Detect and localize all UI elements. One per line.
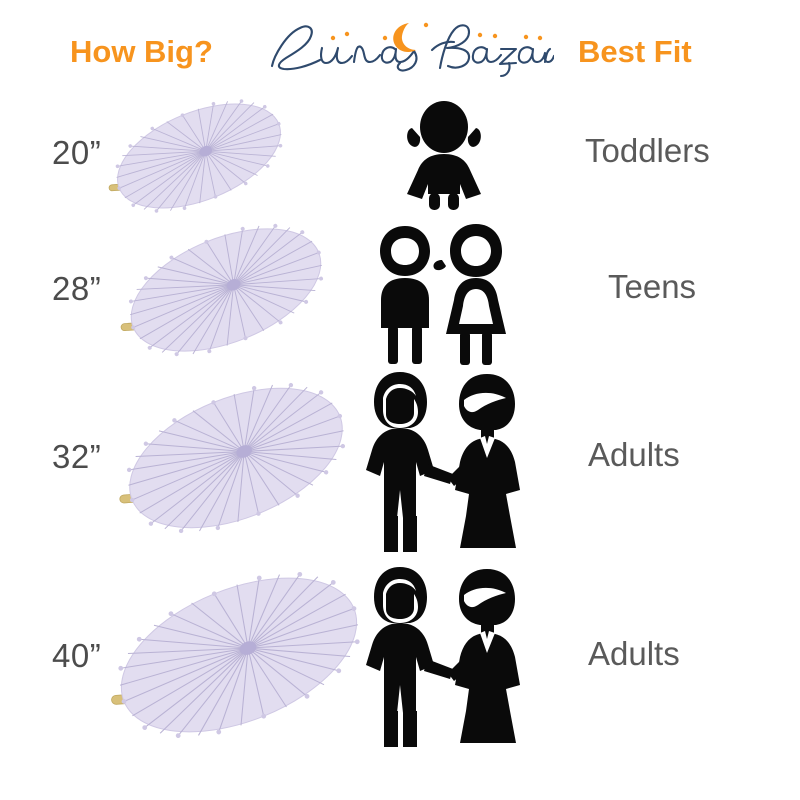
chart-header: How Big? — [0, 0, 800, 92]
fit-label: Adults — [588, 436, 680, 474]
fit-label: Adults — [588, 635, 680, 673]
toddler-girl-icon — [396, 98, 492, 210]
crescent-moon-icon — [393, 23, 416, 52]
parasol-32-inch — [112, 360, 362, 565]
size-label: 28” — [52, 270, 101, 308]
fit-label: Teens — [608, 268, 696, 306]
brand-logo-luna-bazaar — [264, 16, 554, 78]
teen-boy-and-girl-icon — [372, 218, 512, 366]
size-label: 20” — [52, 134, 101, 172]
page-title-how-big: How Big? — [70, 34, 213, 70]
size-label: 40” — [52, 637, 101, 675]
page-title-best-fit: Best Fit — [578, 34, 692, 70]
parasol-20-inch — [96, 88, 306, 228]
adult-couple-icon — [356, 561, 532, 753]
size-row-40: 40” — [0, 545, 800, 785]
size-row-20: 20” — [0, 88, 800, 228]
size-row-32: 32” — [0, 360, 800, 570]
fit-label: Toddlers — [585, 132, 710, 170]
parasol-28-inch — [108, 210, 348, 375]
parasol-size-chart-infographic: How Big? — [0, 0, 800, 800]
size-row-28: 28” — [0, 210, 800, 375]
parasol-40-inch — [104, 545, 374, 780]
size-label: 32” — [52, 438, 101, 476]
adult-couple-icon — [356, 366, 532, 558]
